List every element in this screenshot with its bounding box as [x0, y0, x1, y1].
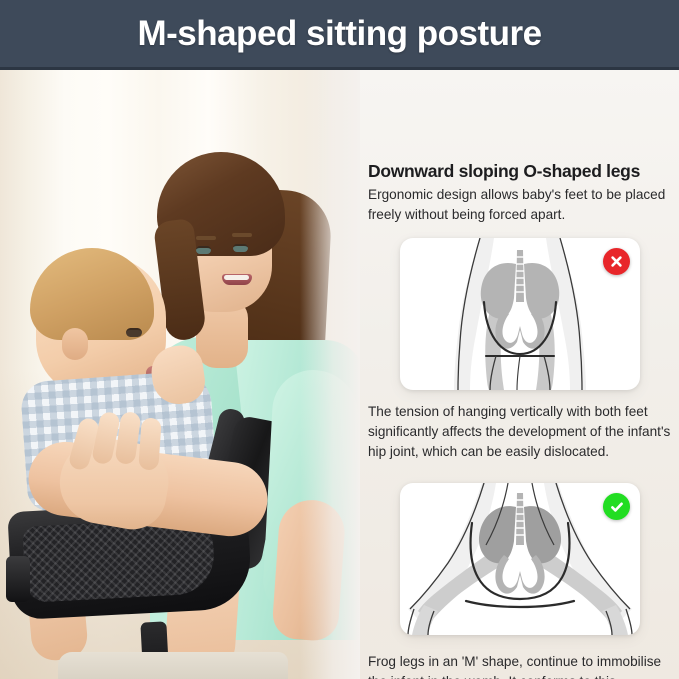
lifestyle-photo: [0, 70, 360, 679]
mother-eye-right: [233, 244, 248, 252]
carrier-buckle: [6, 556, 30, 602]
caption-incorrect: The tension of hanging vertically with b…: [368, 402, 674, 462]
caption-correct: Frog legs in an 'M' shape, continue to i…: [368, 652, 674, 679]
cross-icon: [603, 248, 630, 275]
illustration-card-incorrect: [400, 238, 640, 390]
illustration-card-correct: [400, 483, 640, 635]
mother-teeth: [224, 275, 249, 280]
infographic-page: M-shaped sitting posture: [0, 0, 679, 679]
content-area: Downward sloping O-shaped legs Ergonomic…: [0, 70, 679, 679]
mother-trousers: [58, 652, 288, 679]
photo-edge-fade: [300, 70, 360, 679]
mother-eye-left: [196, 246, 211, 254]
mother-finger-4: [138, 417, 162, 470]
info-column: Downward sloping O-shaped legs Ergonomic…: [360, 140, 679, 679]
section-heading: Downward sloping O-shaped legs: [368, 160, 672, 182]
mother-eyebrow-left: [196, 236, 216, 240]
page-title: M-shaped sitting posture: [137, 14, 541, 54]
check-icon: [603, 493, 630, 520]
header-banner: M-shaped sitting posture: [0, 0, 679, 70]
intro-paragraph: Ergonomic design allows baby's feet to b…: [368, 185, 674, 225]
mother-eyebrow-right: [232, 233, 252, 237]
baby-eye: [126, 328, 142, 337]
baby-ear: [62, 328, 88, 360]
